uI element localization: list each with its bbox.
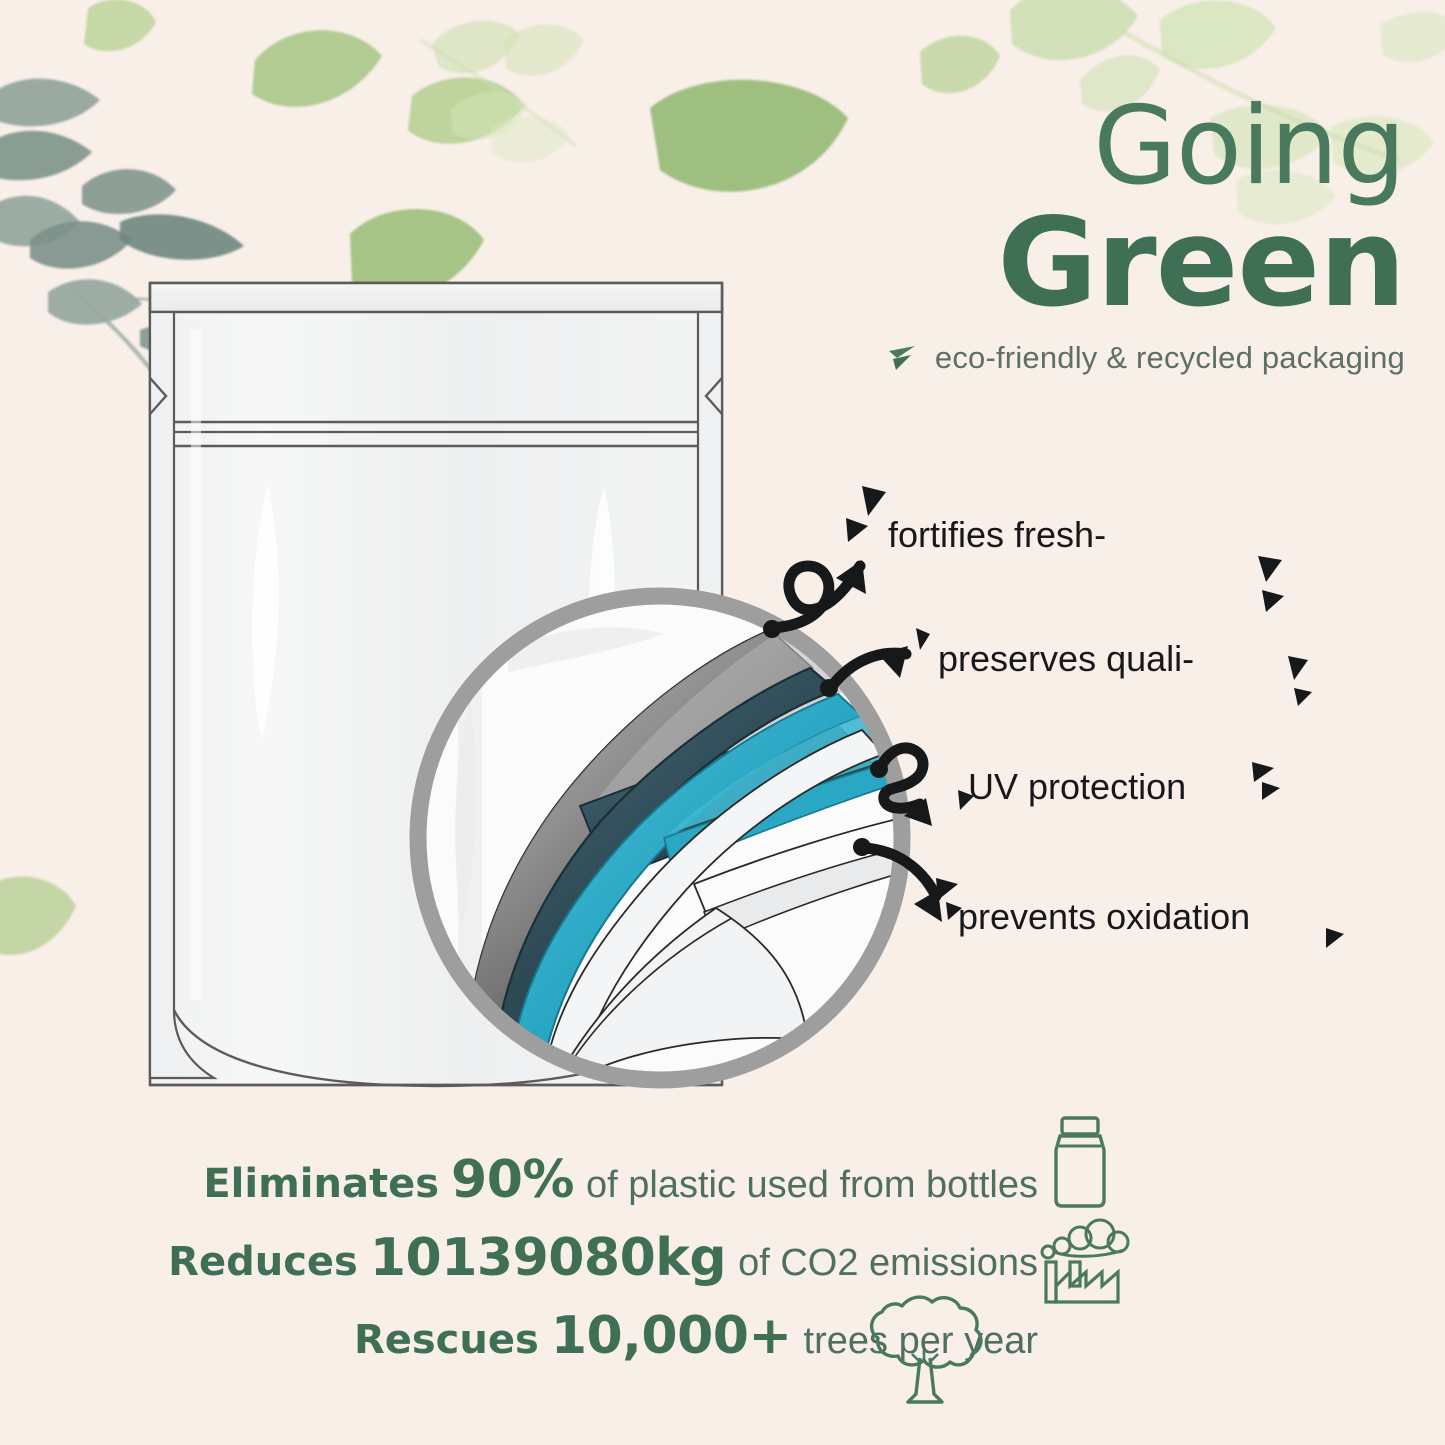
arrow-marker-icon [887, 343, 921, 373]
stat-prefix: Reduces [168, 1239, 358, 1285]
stat-prefix: Rescues [354, 1317, 539, 1363]
stat-value: 10,000+ [551, 1306, 792, 1366]
feature-label-fortifies-fresh: fortifies fresh- [888, 514, 1106, 556]
feature-label-preserves-quality: preserves quali- [938, 638, 1194, 680]
stat-value: 10139080kg [370, 1228, 726, 1288]
feature-label-prevents-oxidation: prevents oxidation [958, 896, 1250, 938]
curved-down-arrow-icon [864, 848, 936, 896]
stat-prefix: Eliminates [203, 1161, 439, 1207]
factory-icon [1040, 1208, 1138, 1308]
bottle-icon [1040, 1112, 1120, 1212]
stat-suffix: of plastic used from bottles [586, 1164, 1038, 1207]
stat-value: 90% [451, 1150, 574, 1210]
loop-the-loop-arrow-icon [880, 748, 923, 808]
infographic-canvas: Going Green eco-friendly & recycled pack… [0, 0, 1445, 1445]
title-line-green: Green [845, 202, 1405, 324]
subtitle-text: eco-friendly & recycled packaging [935, 340, 1405, 376]
tree-icon [862, 1292, 986, 1414]
stat-suffix: of CO2 emissions [738, 1242, 1038, 1285]
title-line-going: Going [845, 96, 1405, 198]
feature-label-uv-protection: UV protection [968, 766, 1186, 808]
subtitle-row: eco-friendly & recycled packaging [845, 340, 1405, 376]
stat-row-plastic: Eliminates 90% of plastic used from bott… [0, 1150, 1060, 1228]
title-block: Going Green eco-friendly & recycled pack… [845, 96, 1405, 376]
